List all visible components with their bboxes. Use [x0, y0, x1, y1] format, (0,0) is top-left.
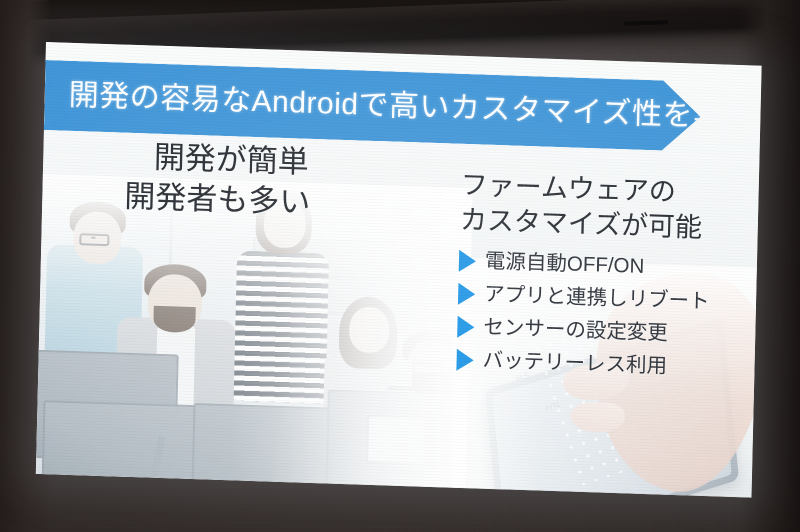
- photo-person-c-striped-top: [234, 250, 329, 403]
- triangle-right-icon: [459, 250, 477, 273]
- feature-bullet-list: 電源自動OFF/ON アプリと連携しリブート センサーの設定変更 バッテリーレス…: [456, 250, 759, 381]
- triangle-right-icon: [457, 316, 475, 339]
- slide-title: 開発の容易なAndroidで高いカスタマイズ性を実現: [44, 80, 754, 134]
- photo-people-at-computers: [36, 174, 473, 488]
- list-item: センサーの設定変更: [457, 316, 757, 348]
- hand-middle-finger: [571, 402, 625, 432]
- triangle-right-icon: [456, 349, 474, 372]
- bullet-label: センサーの設定変更: [483, 318, 668, 345]
- list-item: 電源自動OFF/ON: [459, 250, 759, 282]
- photo-person-a-glasses: [79, 233, 109, 246]
- triangle-right-icon: [458, 283, 476, 306]
- photo-person-d-head: [349, 306, 390, 353]
- bullet-label: アプリと連携しリブート: [484, 285, 710, 313]
- projected-slide: HS HN 開発の容易なAndroidで高いカスタマイズ性を実現 開発が簡単 開…: [36, 42, 762, 498]
- left-heading: 開発が簡単 開発者も多い: [150, 138, 312, 223]
- left-heading-line-2: 開発者も多い: [124, 176, 311, 222]
- list-item: バッテリーレス利用: [456, 349, 756, 381]
- right-heading: ファームウェアの カスタマイズが可能: [459, 168, 761, 248]
- right-column: ファームウェアの カスタマイズが可能 電源自動OFF/ON アプリと連携しリブー…: [456, 168, 761, 397]
- room-background: HS HN 開発の容易なAndroidで高いカスタマイズ性を実現 開発が簡単 開…: [0, 0, 800, 532]
- bullet-label: 電源自動OFF/ON: [485, 252, 645, 278]
- left-heading-line-1: 開発が簡単: [151, 138, 312, 183]
- slide-canvas: HS HN 開発の容易なAndroidで高いカスタマイズ性を実現 開発が簡単 開…: [36, 42, 762, 498]
- bullet-label: バッテリーレス利用: [482, 351, 667, 378]
- photo-monitor-5: [366, 415, 427, 465]
- list-item: アプリと連携しリブート: [458, 283, 758, 315]
- photo-monitor-3: [191, 403, 347, 488]
